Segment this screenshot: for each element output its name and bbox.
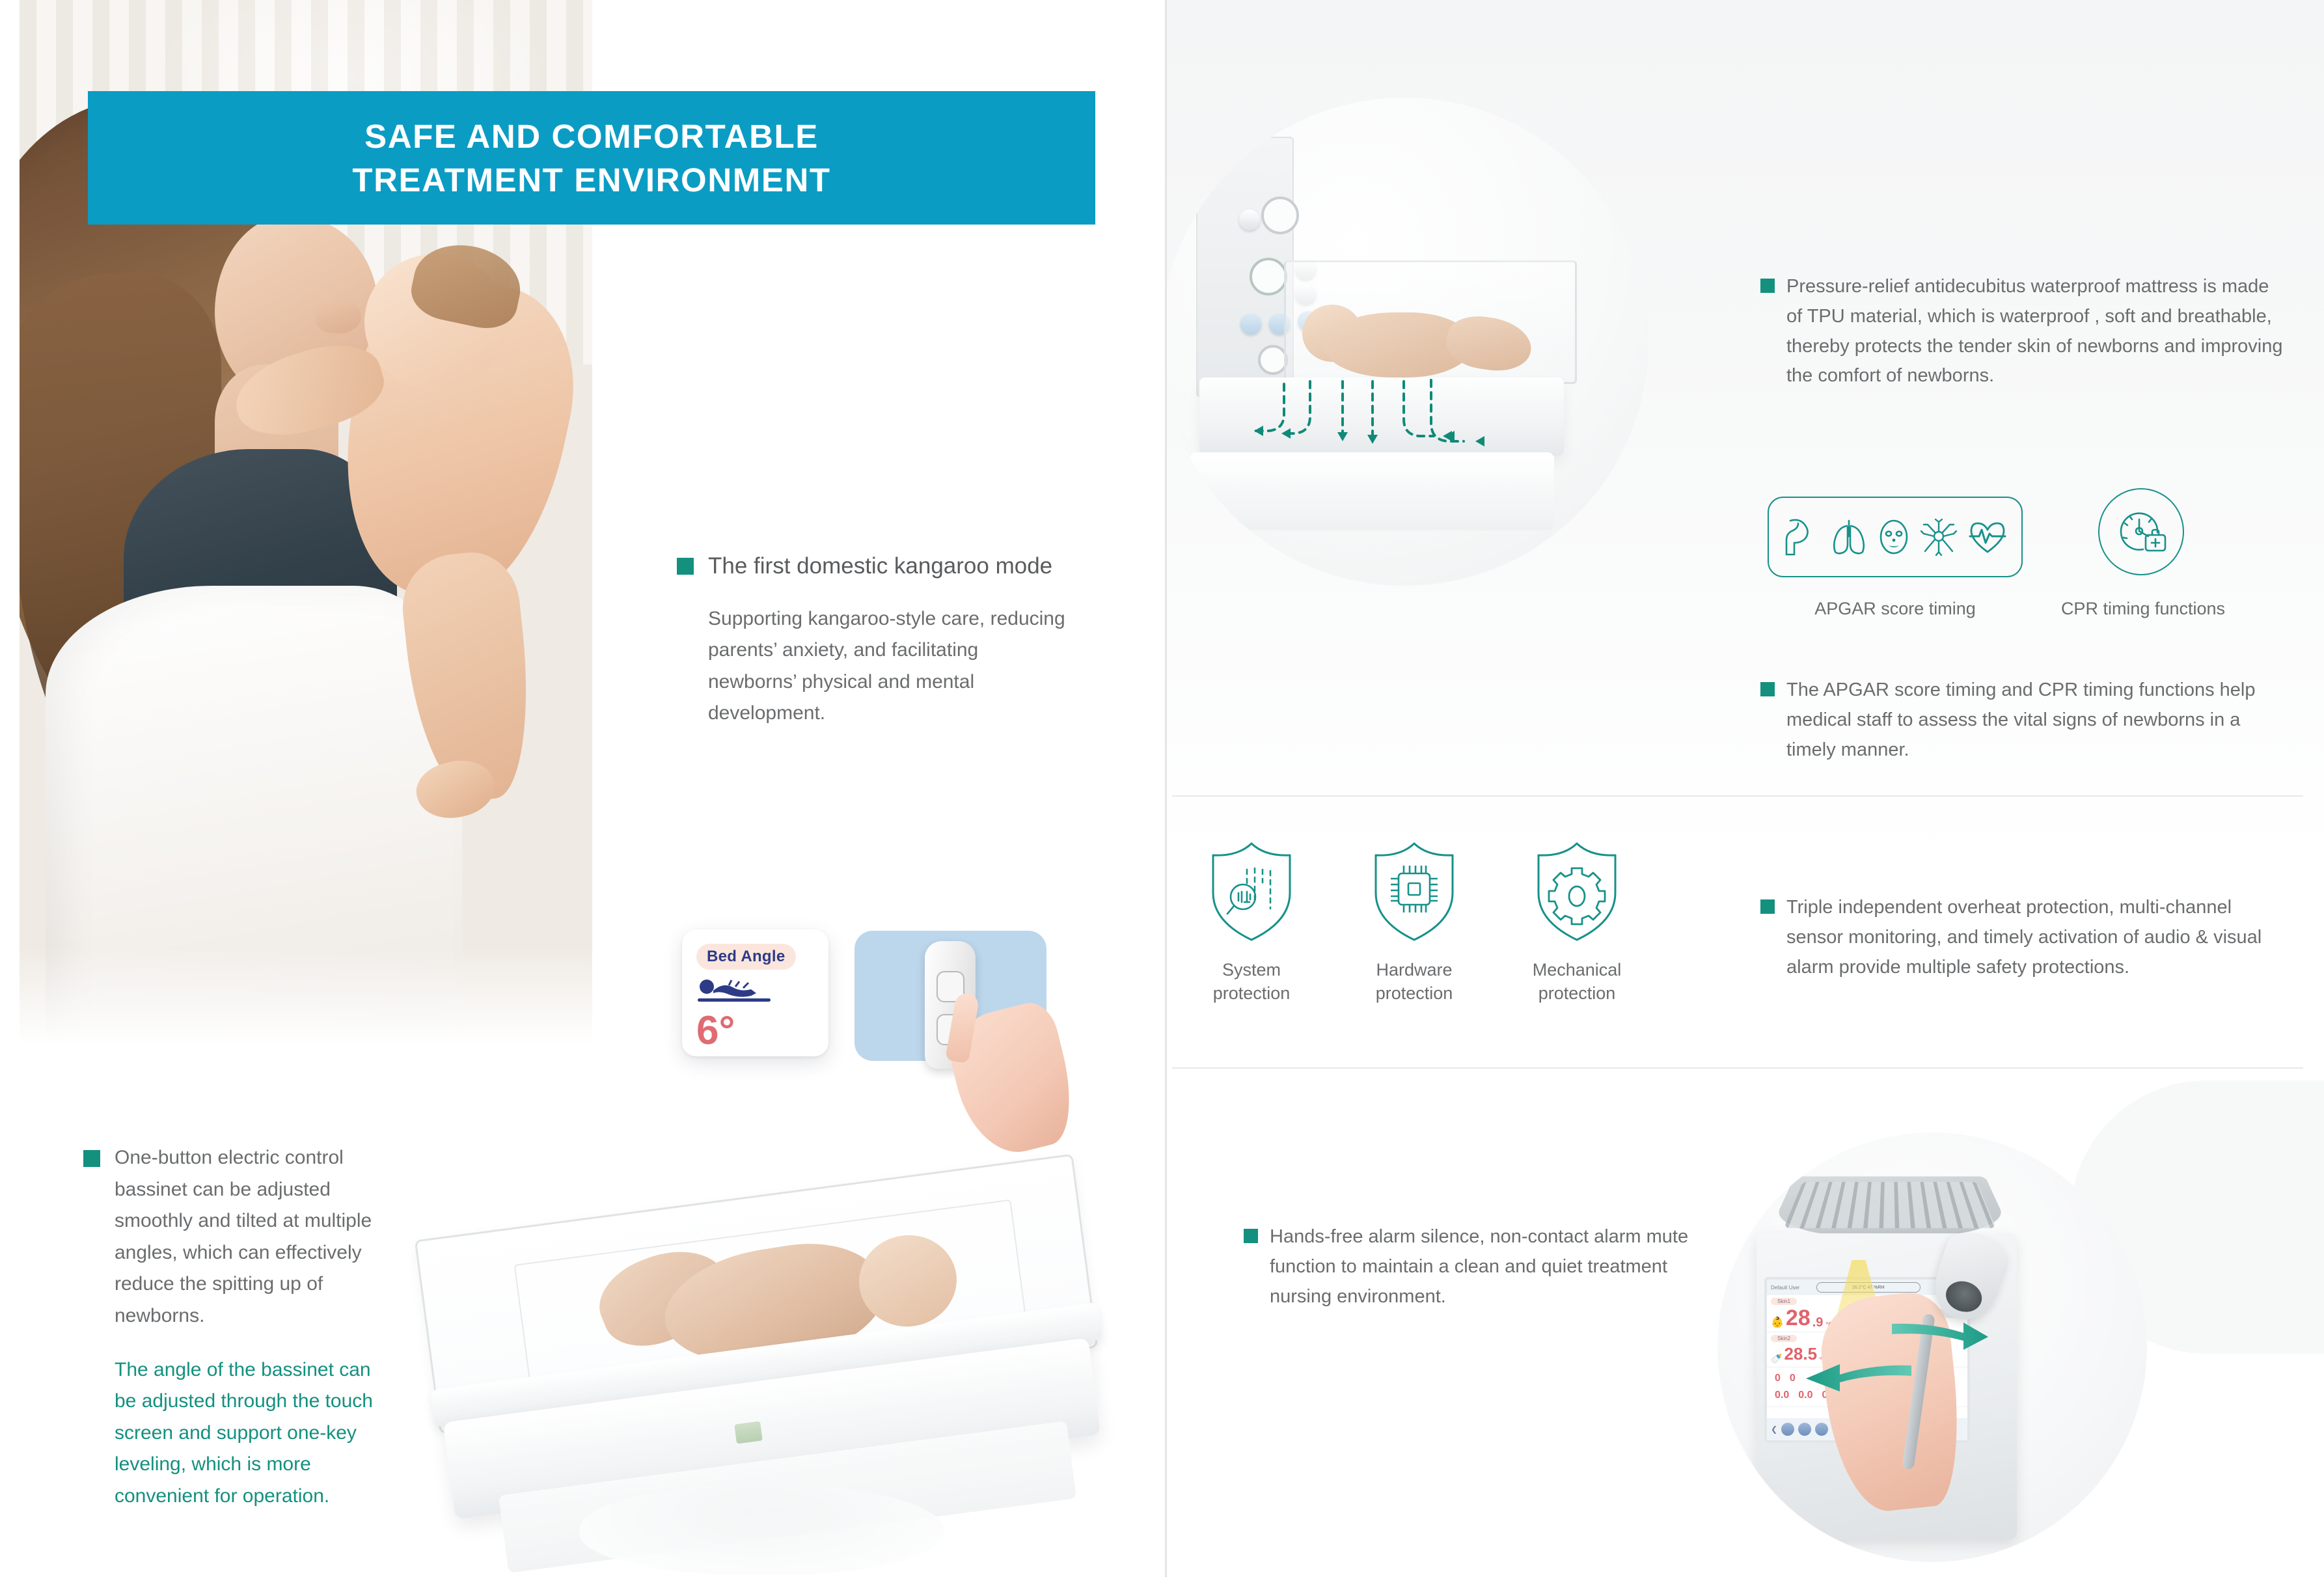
cpr-icon-box xyxy=(2098,488,2184,575)
shield-label-line2: protection xyxy=(1538,983,1616,1003)
right-page: Pressure-relief antidecubitus waterproof… xyxy=(1167,0,2324,1577)
alarm-bullet-text: Hands-free alarm silence, non-contact al… xyxy=(1270,1222,1699,1311)
shield-hardware-protection: Hardware protection xyxy=(1349,840,1479,1006)
bullet-square-icon xyxy=(83,1150,100,1167)
shield-label: System protection xyxy=(1213,958,1291,1006)
lungs-icon xyxy=(1830,517,1868,557)
panel-knob xyxy=(1239,210,1260,230)
kangaroo-body: Supporting kangaroo-style care, reducing… xyxy=(708,603,1067,730)
title-banner: SAFE AND COMFORTABLE TREATMENT ENVIRONME… xyxy=(88,91,1095,225)
overheat-bullet-text: Triple independent overheat protection, … xyxy=(1786,893,2288,982)
section-divider-2 xyxy=(1172,1067,2303,1069)
remote-control-photo xyxy=(854,931,1046,1061)
shield-label: Hardware protection xyxy=(1376,958,1453,1006)
freeze-icon[interactable] xyxy=(1815,1423,1828,1436)
bassinet-latch xyxy=(734,1421,763,1444)
section-divider-1 xyxy=(1172,795,2303,797)
kangaroo-title: The first domestic kangaroo mode xyxy=(708,550,1052,583)
spo2-value: 0 xyxy=(1775,1373,1781,1384)
vital-zero-1: 0 xyxy=(1790,1373,1796,1384)
shield-label-line2: protection xyxy=(1213,983,1291,1003)
left-page: SAFE AND COMFORTABLE TREATMENT ENVIRONME… xyxy=(0,0,1165,1577)
mattress-airflow-photo xyxy=(1167,98,1648,586)
tilted-bassinet-photo xyxy=(384,1119,1158,1575)
airflow-arrows-icon xyxy=(1245,377,1525,456)
bed-angle-value: 6° xyxy=(696,1011,815,1051)
banner-line-2: TREATMENT ENVIRONMENT xyxy=(352,163,830,197)
flow-gauge-icon xyxy=(1250,258,1287,295)
one-button-body: One-button electric control bassinet can… xyxy=(115,1142,389,1332)
bed-angle-label: Bed Angle xyxy=(696,944,796,970)
shield-system-protection: System protection xyxy=(1186,840,1317,1006)
warmer-heater-hood xyxy=(1767,1176,2014,1237)
face-icon xyxy=(1877,517,1911,557)
incubator-base-unit xyxy=(1190,452,1554,530)
shield-label-line2: protection xyxy=(1376,983,1453,1003)
overheat-bullet: Triple independent overheat protection, … xyxy=(1760,893,2288,982)
screen-icon[interactable] xyxy=(1798,1423,1811,1436)
bullet-square-icon xyxy=(1760,682,1775,696)
baby-face-icon: 👶 xyxy=(1771,1316,1784,1329)
mute-arrow-left-icon xyxy=(1801,1362,1911,1394)
cpr-caption: CPR timing functions xyxy=(2013,599,2273,619)
neuron-icon xyxy=(1920,517,1958,557)
mute-arrow-right-icon xyxy=(1892,1320,1989,1352)
bullet-square-icon xyxy=(1760,279,1775,293)
bassinet-wheelbase xyxy=(579,1484,944,1575)
weigh-icon[interactable] xyxy=(1781,1423,1794,1436)
apgar-icon-box xyxy=(1768,497,2023,577)
mattress-bullet-text: Pressure-relief antidecubitus waterproof… xyxy=(1786,272,2288,391)
photo-bottom-fade xyxy=(20,947,592,1058)
skin1-label: Skin1 xyxy=(1771,1298,1797,1305)
kangaroo-bullet-row: The first domestic kangaroo mode xyxy=(677,550,1067,583)
heart-pulse-icon xyxy=(1967,517,2008,557)
apgar-bullet-text: The APGAR score timing and CPR timing fu… xyxy=(1786,676,2281,765)
prev-arrow-icon[interactable]: ❮ xyxy=(1771,1425,1777,1434)
shield-label-line1: System xyxy=(1222,960,1281,980)
shield-label-line1: Mechanical xyxy=(1533,960,1622,980)
kangaroo-block: The first domestic kangaroo mode Support… xyxy=(677,550,1067,730)
incubator-control-panel xyxy=(1196,137,1294,397)
skin2-label: Skin2 xyxy=(1771,1335,1797,1342)
one-button-bullet-row: One-button electric control bassinet can… xyxy=(83,1142,389,1332)
bullet-square-icon xyxy=(677,558,694,575)
vital-0-0-a: 0.0 xyxy=(1775,1390,1789,1401)
panel-knob xyxy=(1240,314,1261,335)
cpu-chip-shield-icon xyxy=(1367,840,1462,944)
bullet-square-icon xyxy=(1760,899,1775,914)
screen-user: Default User xyxy=(1771,1285,1799,1291)
skin1-value: 28 xyxy=(1786,1307,1811,1329)
apgar-caption: APGAR score timing xyxy=(1768,599,2023,619)
muscle-arm-icon xyxy=(1783,517,1820,557)
mattress-bullet: Pressure-relief antidecubitus waterproof… xyxy=(1760,272,2288,391)
skin1-decimal: .9 xyxy=(1812,1316,1824,1329)
alarm-bullet: Hands-free alarm silence, non-contact al… xyxy=(1244,1222,1699,1311)
shield-label-line1: Hardware xyxy=(1376,960,1452,980)
magnifier-binary-shield-icon xyxy=(1204,840,1299,944)
banner-line-1: SAFE AND COMFORTABLE xyxy=(364,120,819,153)
gear-shield-icon xyxy=(1529,840,1624,944)
bullet-square-icon xyxy=(1244,1229,1258,1243)
baby-body-icon: 🍼 xyxy=(1771,1353,1782,1364)
apgar-bullet: The APGAR score timing and CPR timing fu… xyxy=(1760,676,2281,765)
baby-on-bed-icon xyxy=(696,976,815,1008)
pressure-gauge-icon xyxy=(1261,197,1299,234)
brochure-page: SAFE AND COMFORTABLE TREATMENT ENVIRONME… xyxy=(0,0,2324,1577)
one-button-block: One-button electric control bassinet can… xyxy=(83,1142,389,1513)
shield-mechanical-protection: Mechanical protection xyxy=(1512,840,1642,1006)
protection-shields-group: System protection xyxy=(1186,840,1642,1006)
stopwatch-medical-kit-icon xyxy=(2113,504,2169,560)
touchscreen-alarm-photo: HKN-2200B Default User 26.2°C 47 %RH 202… xyxy=(1717,1132,2147,1562)
shield-label: Mechanical protection xyxy=(1533,958,1622,1006)
one-button-highlight: The angle of the bassinet can be adjuste… xyxy=(115,1354,389,1513)
bed-angle-card: Bed Angle 6° xyxy=(682,929,828,1056)
